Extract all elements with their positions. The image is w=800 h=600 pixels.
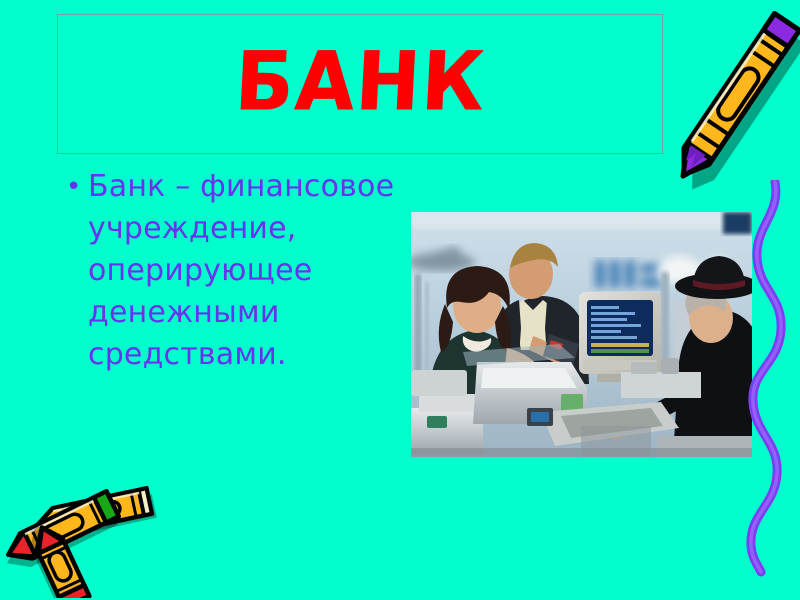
crayon-icon — [2, 491, 122, 576]
body-placeholder: • Банк – финансовое учреждение, оперирую… — [66, 166, 396, 376]
page-title: БАНК — [233, 41, 488, 127]
title-placeholder: БАНК — [57, 14, 663, 154]
crayon-group-icon — [2, 470, 182, 598]
bullet-item-label: Банк – финансовое учреждение, оперирующе… — [88, 166, 396, 376]
crayon-icon — [35, 487, 157, 542]
crayon-icon — [660, 0, 800, 204]
crayon-decoration-top-right — [660, 0, 800, 204]
bank-counter-photo-illustration — [411, 212, 752, 457]
bullet-list-item: • Банк – финансовое учреждение, оперирую… — [66, 166, 396, 376]
bullet-point-icon: • — [66, 166, 88, 208]
crayon-icon — [23, 517, 90, 598]
crayons-decoration-bottom-left — [2, 470, 182, 598]
bank-counter-photo — [411, 212, 752, 457]
slide: БАНК • Банк – финансовое учреждение, опе… — [0, 0, 800, 600]
